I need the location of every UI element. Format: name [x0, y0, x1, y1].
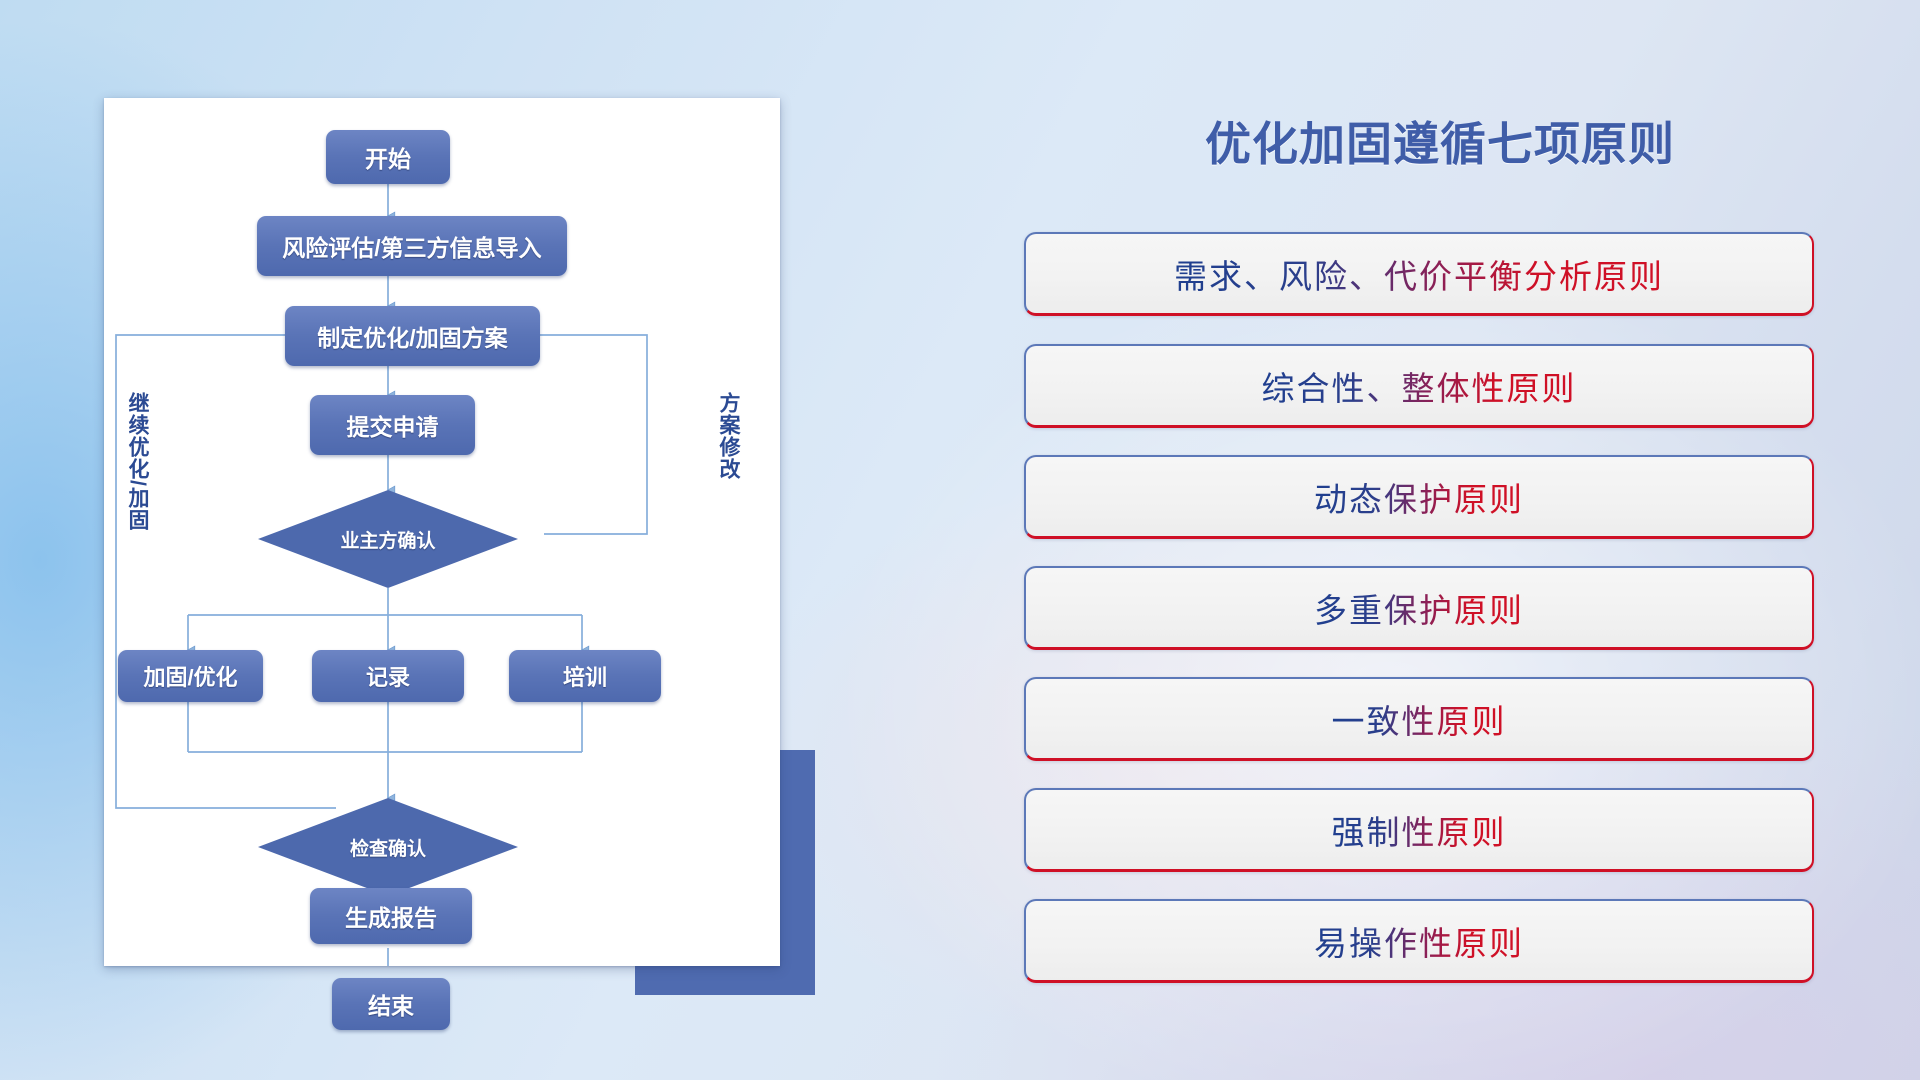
flow-node-record[interactable]: 记录: [312, 650, 464, 702]
flow-node-owner-confirmation[interactable]: 业主方确认: [258, 490, 518, 588]
principle-card[interactable]: 一致性原则: [1024, 677, 1814, 761]
flow-node-start[interactable]: 开始: [326, 130, 450, 184]
flowchart-card: 开始 风险评估/第三方信息导入 制定优化/加固方案 提交申请 业主方确认 加固/…: [104, 98, 780, 966]
principle-card[interactable]: 需求、风险、代价平衡分析原则: [1024, 232, 1814, 316]
principle-label: 多重保护原则: [1314, 584, 1524, 632]
edge-label-plan-revision: 方案修改: [717, 376, 739, 496]
flow-node-generate-report[interactable]: 生成报告: [310, 888, 472, 944]
principles-panel: 优化加固遵循七项原则 需求、风险、代价平衡分析原则 综合性、整体性原则 动态保护…: [1010, 0, 1870, 1080]
flow-node-end[interactable]: 结束: [332, 978, 450, 1030]
principle-card[interactable]: 多重保护原则: [1024, 566, 1814, 650]
flow-node-plan[interactable]: 制定优化/加固方案: [285, 306, 540, 366]
flow-node-label: 培训: [563, 660, 607, 692]
principle-label: 易操作性原则: [1314, 917, 1524, 965]
flow-node-label: 加固/优化: [143, 660, 237, 692]
principle-label: 需求、风险、代价平衡分析原则: [1174, 250, 1664, 298]
flow-node-label: 风险评估/第三方信息导入: [282, 229, 541, 263]
flow-node-submit-application[interactable]: 提交申请: [310, 395, 475, 455]
flow-node-label: 业主方确认: [340, 526, 435, 553]
principle-card[interactable]: 综合性、整体性原则: [1024, 344, 1814, 428]
principle-card[interactable]: 强制性原则: [1024, 788, 1814, 872]
flow-node-inspection-confirmation[interactable]: 检查确认: [258, 798, 518, 896]
flow-node-label: 开始: [365, 140, 411, 174]
flow-node-label: 记录: [366, 660, 410, 692]
flowchart-inner: 开始 风险评估/第三方信息导入 制定优化/加固方案 提交申请 业主方确认 加固/…: [104, 98, 780, 966]
flow-node-label: 制定优化/加固方案: [317, 319, 507, 353]
edge-label-text: 方案修改: [717, 392, 740, 480]
flow-node-label: 生成报告: [345, 899, 437, 933]
flow-node-reinforce-optimize[interactable]: 加固/优化: [118, 650, 263, 702]
edge-label-continue-optimize: 继续优化/加固: [126, 376, 148, 546]
panel-title: 优化加固遵循七项原则: [1010, 108, 1870, 174]
flow-node-label: 检查确认: [350, 834, 426, 861]
flow-node-risk-assessment[interactable]: 风险评估/第三方信息导入: [257, 216, 567, 276]
principle-label: 综合性、整体性原则: [1262, 362, 1577, 410]
flow-node-label: 结束: [368, 987, 414, 1021]
principle-card[interactable]: 动态保护原则: [1024, 455, 1814, 539]
principle-label: 动态保护原则: [1314, 473, 1524, 521]
flow-node-label: 提交申请: [347, 408, 439, 442]
flow-node-training[interactable]: 培训: [509, 650, 661, 702]
slide-canvas: 开始 风险评估/第三方信息导入 制定优化/加固方案 提交申请 业主方确认 加固/…: [0, 0, 1920, 1080]
principle-label: 强制性原则: [1332, 806, 1507, 854]
principle-card[interactable]: 易操作性原则: [1024, 899, 1814, 983]
edge-label-text: 继续优化/加固: [126, 392, 149, 531]
principle-label: 一致性原则: [1332, 695, 1507, 743]
